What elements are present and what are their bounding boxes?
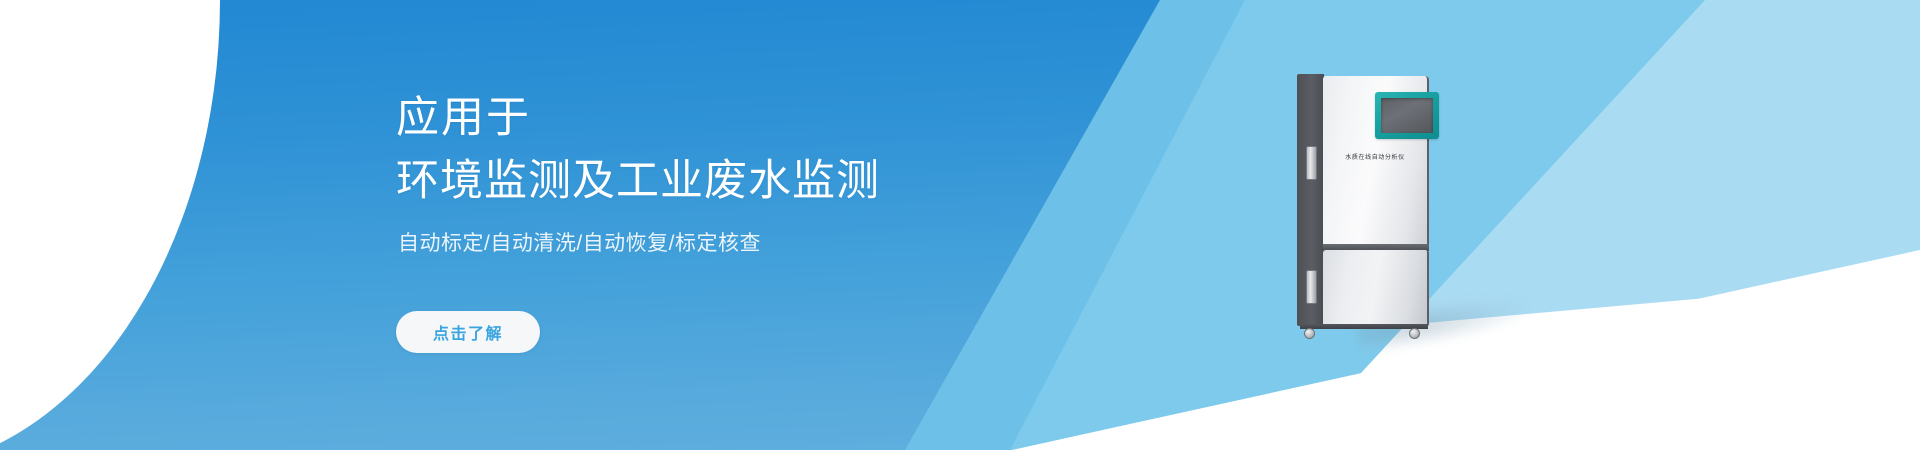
device-lower-door-handle xyxy=(1306,270,1317,304)
hero-banner: 应用于环境监测及工业废水监测 自动标定/自动清洗/自动恢复/标定核查 点击了解 … xyxy=(0,0,1920,450)
hero-content: 应用于环境监测及工业废水监测 自动标定/自动清洗/自动恢复/标定核查 点击了解 xyxy=(396,0,1156,450)
device-cabinet-label: 水质在线自动分析仪 xyxy=(1327,152,1423,161)
device-upper-cabinet xyxy=(1323,76,1429,247)
device-upper-door-handle xyxy=(1306,146,1317,180)
headline-line-1: 应用于 xyxy=(396,94,531,142)
page-title: 应用于环境监测及工业废水监测 xyxy=(396,87,880,213)
device-base xyxy=(1300,324,1428,329)
device-caster-left xyxy=(1304,328,1315,339)
device-screen-bezel xyxy=(1375,92,1439,139)
device-display-screen xyxy=(1381,98,1433,133)
headline-line-2: 环境监测及工业废水监测 xyxy=(396,157,880,205)
learn-more-button[interactable]: 点击了解 xyxy=(396,311,540,353)
hero-subtitle: 自动标定/自动清洗/自动恢复/标定核查 xyxy=(398,227,761,257)
device-lower-cabinet xyxy=(1323,250,1429,326)
product-image-water-quality-analyzer: 水质在线自动分析仪 xyxy=(1297,74,1457,336)
device-caster-right xyxy=(1409,328,1420,339)
